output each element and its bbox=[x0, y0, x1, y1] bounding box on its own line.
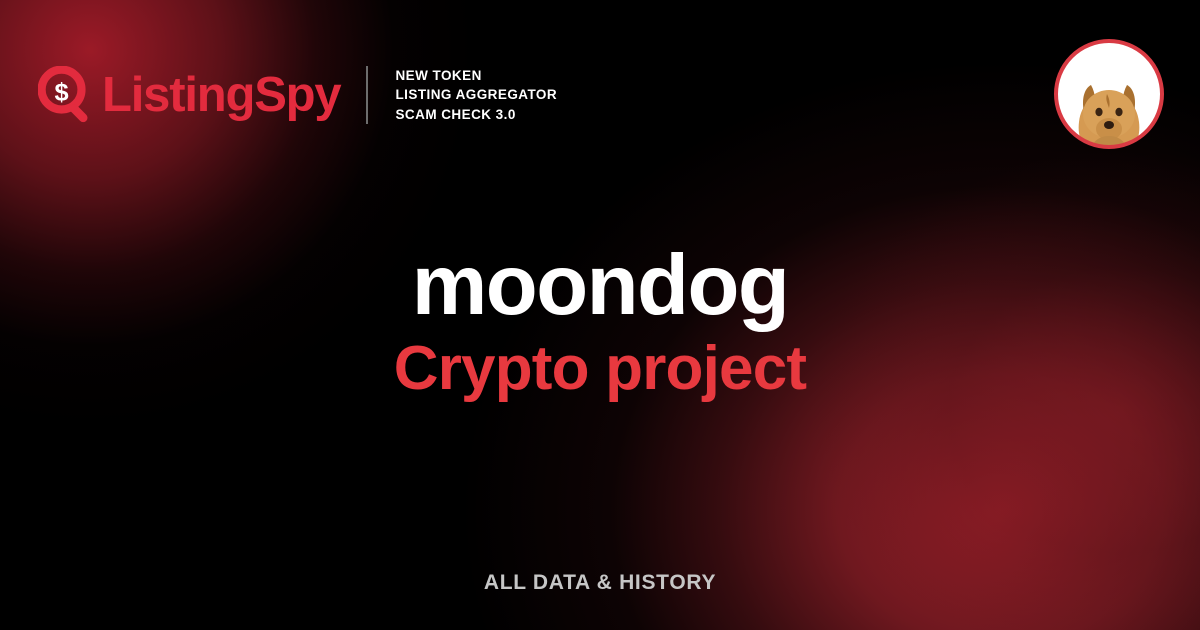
tagline-line-3: SCAM CHECK 3.0 bbox=[395, 105, 557, 124]
project-subtitle: Crypto project bbox=[0, 336, 1200, 403]
project-title: moondog bbox=[0, 243, 1200, 328]
brand-tagline: NEW TOKEN LISTING AGGREGATOR SCAM CHECK … bbox=[395, 66, 557, 123]
site-header: $ ListingSpy NEW TOKEN LISTING AGGREGATO… bbox=[38, 52, 557, 138]
headline-block: moondog Crypto project bbox=[0, 243, 1200, 403]
brand-name: ListingSpy bbox=[102, 71, 340, 120]
magnifier-dollar-icon: $ bbox=[38, 66, 96, 124]
brand-logo[interactable]: $ ListingSpy bbox=[38, 66, 340, 124]
header-divider bbox=[366, 66, 368, 124]
tagline-line-2: LISTING AGGREGATOR bbox=[395, 85, 557, 104]
tagline-line-1: NEW TOKEN bbox=[395, 66, 557, 85]
share-card: $ ListingSpy NEW TOKEN LISTING AGGREGATO… bbox=[0, 0, 1200, 630]
svg-text:$: $ bbox=[55, 78, 69, 106]
project-avatar[interactable] bbox=[1053, 38, 1165, 150]
moondog-avatar-icon bbox=[1053, 38, 1165, 150]
footer-caption: ALL DATA & HISTORY bbox=[0, 571, 1200, 595]
